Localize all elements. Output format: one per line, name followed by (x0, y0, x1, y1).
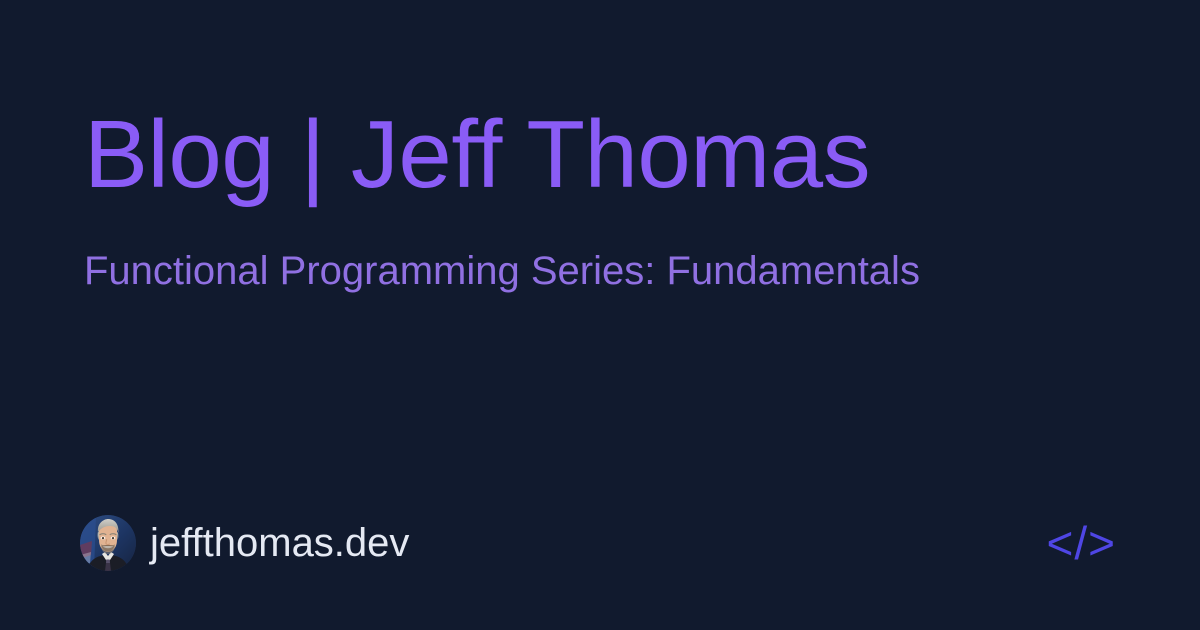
site-name: jeffthomas.dev (150, 523, 409, 563)
code-brackets-icon: </> (1046, 520, 1120, 566)
page-subtitle: Functional Programming Series: Fundament… (84, 206, 1116, 296)
open-graph-card: Blog | Jeff Thomas Functional Programmin… (0, 0, 1200, 630)
page-title: Blog | Jeff Thomas (84, 104, 1116, 206)
card-footer: jeffthomas.dev </> (80, 514, 1120, 572)
avatar (80, 515, 136, 571)
card-content: Blog | Jeff Thomas Functional Programmin… (84, 104, 1116, 296)
site-identity: jeffthomas.dev (80, 515, 409, 571)
